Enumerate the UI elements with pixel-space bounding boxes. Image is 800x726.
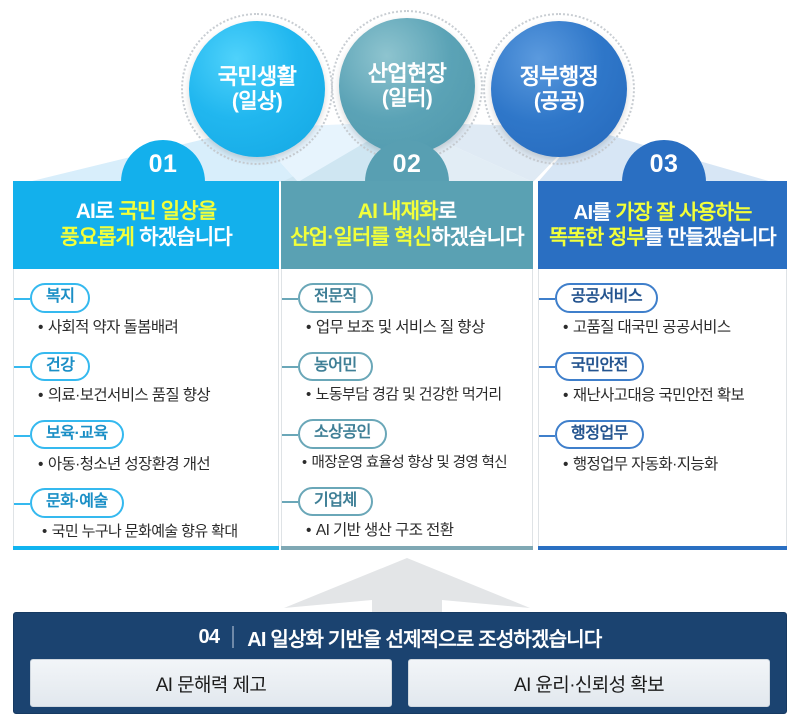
bottom-banner: 04 AI 일상화 기반을 선제적으로 조성하겠습니다 AI 문해력 제고 AI… xyxy=(13,612,787,714)
item-group: 공공서비스 •고품질 대국민 공공서비스 xyxy=(539,283,786,345)
pill-row: 문화·예술 xyxy=(14,488,278,518)
bullet-text: •업무 보조 및 서비스 질 향상 xyxy=(282,313,532,345)
connector-tick-icon xyxy=(539,435,555,437)
bottom-divider xyxy=(232,626,234,648)
bottom-box-1[interactable]: AI 문해력 제고 xyxy=(30,659,392,707)
bullet-dot-icon: • xyxy=(38,456,43,473)
circle-group-3: 정부행정 (공공) xyxy=(491,21,627,157)
pillar-column-2: AI 내재화로 산업·일터를 혁신하겠습니다 전문직 •업무 보조 및 서비스 … xyxy=(281,181,533,550)
circle-title-1: 국민생활 xyxy=(218,65,297,90)
bottom-box-2[interactable]: AI 윤리·신뢰성 확보 xyxy=(408,659,770,707)
circle-subtitle-3: (공공) xyxy=(534,90,584,114)
pill-label[interactable]: 문화·예술 xyxy=(30,488,124,517)
item-group: 농어민 •노동부담 경감 및 건강한 먹거리 xyxy=(282,351,532,413)
bullet-text: •재난사고대응 국민안전 확보 xyxy=(539,381,786,413)
bullet-text: •아동·청소년 성장환경 개선 xyxy=(14,450,278,482)
bottom-title-row: 04 AI 일상화 기반을 선제적으로 조성하겠습니다 xyxy=(30,620,770,654)
circle-subtitle-1: (일상) xyxy=(232,90,282,114)
column-3-header: AI를 가장 잘 사용하는 똑똑한 정부를 만들겠습니다 xyxy=(538,181,787,269)
bullet-text: •노동부담 경감 및 건강한 먹거리 xyxy=(282,381,532,413)
column-1-headline-1: AI로 국민 일상을 xyxy=(76,199,217,225)
bullet-text: •AI 기반 생산 구조 전환 xyxy=(282,516,532,548)
circle-group-2: 산업현장 (일터) xyxy=(339,18,475,154)
column-2-header: AI 내재화로 산업·일터를 혁신하겠습니다 xyxy=(281,181,533,269)
pill-label[interactable]: 소상공인 xyxy=(298,419,387,448)
pill-row: 기업체 xyxy=(282,486,532,516)
bullet-dot-icon: • xyxy=(42,523,47,540)
bottom-number: 04 xyxy=(199,626,220,649)
pill-row: 공공서비스 xyxy=(539,283,786,313)
connector-tick-icon xyxy=(282,501,298,503)
item-group: 건강 •의료·보건서비스 품질 향상 xyxy=(14,351,278,413)
item-group: 행정업무 •행정업무 자동화·지능화 xyxy=(539,420,786,482)
connector-tick-icon xyxy=(14,298,30,300)
item-group: 국민안전 •재난사고대응 국민안전 확보 xyxy=(539,351,786,413)
circle-subtitle-2: (일터) xyxy=(382,87,432,111)
bullet-text: •매장운영 효율성 향상 및 경영 혁신 xyxy=(282,449,532,480)
pill-label[interactable]: 국민안전 xyxy=(555,352,644,381)
bullet-dot-icon: • xyxy=(306,522,311,539)
item-group: 소상공인 •매장운영 효율성 향상 및 경영 혁신 xyxy=(282,419,532,480)
pill-label[interactable]: 기업체 xyxy=(298,487,373,516)
pill-row: 전문직 xyxy=(282,283,532,313)
circle-industry-site[interactable]: 산업현장 (일터) xyxy=(339,18,475,154)
pill-label[interactable]: 보육·교육 xyxy=(30,420,124,449)
pill-row: 건강 xyxy=(14,351,278,381)
column-3-body: 공공서비스 •고품질 대국민 공공서비스 국민안전 •재난사고대응 국민안전 확… xyxy=(538,269,787,546)
bullet-dot-icon: • xyxy=(302,455,306,471)
bullet-text: •의료·보건서비스 품질 향상 xyxy=(14,381,278,413)
column-3-accent-bar xyxy=(538,546,787,550)
connector-tick-icon xyxy=(539,366,555,368)
bullet-dot-icon: • xyxy=(563,387,568,404)
bullet-dot-icon: • xyxy=(563,319,568,336)
item-group: 전문직 •업무 보조 및 서비스 질 향상 xyxy=(282,283,532,345)
bullet-text: •사회적 약자 돌봄배려 xyxy=(14,313,278,345)
pillar-column-3: AI를 가장 잘 사용하는 똑똑한 정부를 만들겠습니다 공공서비스 •고품질 … xyxy=(538,181,787,550)
column-1-header: AI로 국민 일상을 풍요롭게 하겠습니다 xyxy=(13,181,279,269)
connector-tick-icon xyxy=(282,298,298,300)
pillar-column-1: AI로 국민 일상을 풍요롭게 하겠습니다 복지 •사회적 약자 돌봄배려 건강… xyxy=(13,181,279,550)
bottom-box-row: AI 문해력 제고 AI 윤리·신뢰성 확보 xyxy=(30,659,770,707)
pill-row: 복지 xyxy=(14,283,278,313)
circle-title-2: 산업현장 xyxy=(368,62,447,87)
connector-tick-icon xyxy=(282,366,298,368)
connector-tick-icon xyxy=(14,503,30,505)
bullet-text: •행정업무 자동화·지능화 xyxy=(539,450,786,482)
pill-row: 농어민 xyxy=(282,351,532,381)
connector-tick-icon xyxy=(539,298,555,300)
connector-tick-icon xyxy=(14,366,30,368)
pill-row: 국민안전 xyxy=(539,351,786,381)
connector-tick-icon xyxy=(14,435,30,437)
bullet-dot-icon: • xyxy=(306,319,311,336)
circle-national-life[interactable]: 국민생활 (일상) xyxy=(189,21,325,157)
bullet-dot-icon: • xyxy=(38,387,43,404)
column-2-headline-2: 산업·일터를 혁신하겠습니다 xyxy=(290,225,523,251)
pill-label[interactable]: 행정업무 xyxy=(555,420,644,449)
pill-row: 보육·교육 xyxy=(14,420,278,450)
infographic-canvas: 국민생활 (일상) 산업현장 (일터) 정부행정 (공공) 01 02 03 A… xyxy=(0,0,800,726)
column-1-headline-2: 풍요롭게 하겠습니다 xyxy=(60,225,232,251)
bullet-text: •국민 누구나 문화예술 향유 확대 xyxy=(14,518,278,550)
item-group: 보육·교육 •아동·청소년 성장환경 개선 xyxy=(14,420,278,482)
item-group: 문화·예술 •국민 누구나 문화예술 향유 확대 xyxy=(14,488,278,550)
bullet-dot-icon: • xyxy=(563,456,568,473)
column-2-body: 전문직 •업무 보조 및 서비스 질 향상 농어민 •노동부담 경감 및 건강한… xyxy=(281,269,533,546)
pill-label[interactable]: 전문직 xyxy=(298,283,373,312)
bullet-text: •고품질 대국민 공공서비스 xyxy=(539,313,786,345)
pill-label[interactable]: 복지 xyxy=(30,283,90,312)
column-1-body: 복지 •사회적 약자 돌봄배려 건강 •의료·보건서비스 품질 향상 보육·교육… xyxy=(13,269,279,546)
circle-government-admin[interactable]: 정부행정 (공공) xyxy=(491,21,627,157)
pill-label[interactable]: 건강 xyxy=(30,352,90,381)
upward-arrow-icon xyxy=(282,556,532,612)
pill-row: 소상공인 xyxy=(282,419,532,449)
bullet-dot-icon: • xyxy=(38,319,43,336)
item-group: 기업체 •AI 기반 생산 구조 전환 xyxy=(282,486,532,548)
bullet-dot-icon: • xyxy=(306,386,311,403)
circle-group-1: 국민생활 (일상) xyxy=(189,21,325,157)
pill-label[interactable]: 농어민 xyxy=(298,352,373,381)
pill-label[interactable]: 공공서비스 xyxy=(555,283,658,312)
pill-row: 행정업무 xyxy=(539,420,786,450)
column-2-headline-1: AI 내재화로 xyxy=(358,199,457,225)
column-3-headline-1: AI를 가장 잘 사용하는 xyxy=(573,200,751,225)
circle-title-3: 정부행정 xyxy=(520,65,599,90)
item-group: 복지 •사회적 약자 돌봄배려 xyxy=(14,283,278,345)
bottom-title-text: AI 일상화 기반을 선제적으로 조성하겠습니다 xyxy=(247,623,601,652)
column-3-headline-2: 똑똑한 정부를 만들겠습니다 xyxy=(549,225,776,250)
connector-tick-icon xyxy=(282,434,298,436)
